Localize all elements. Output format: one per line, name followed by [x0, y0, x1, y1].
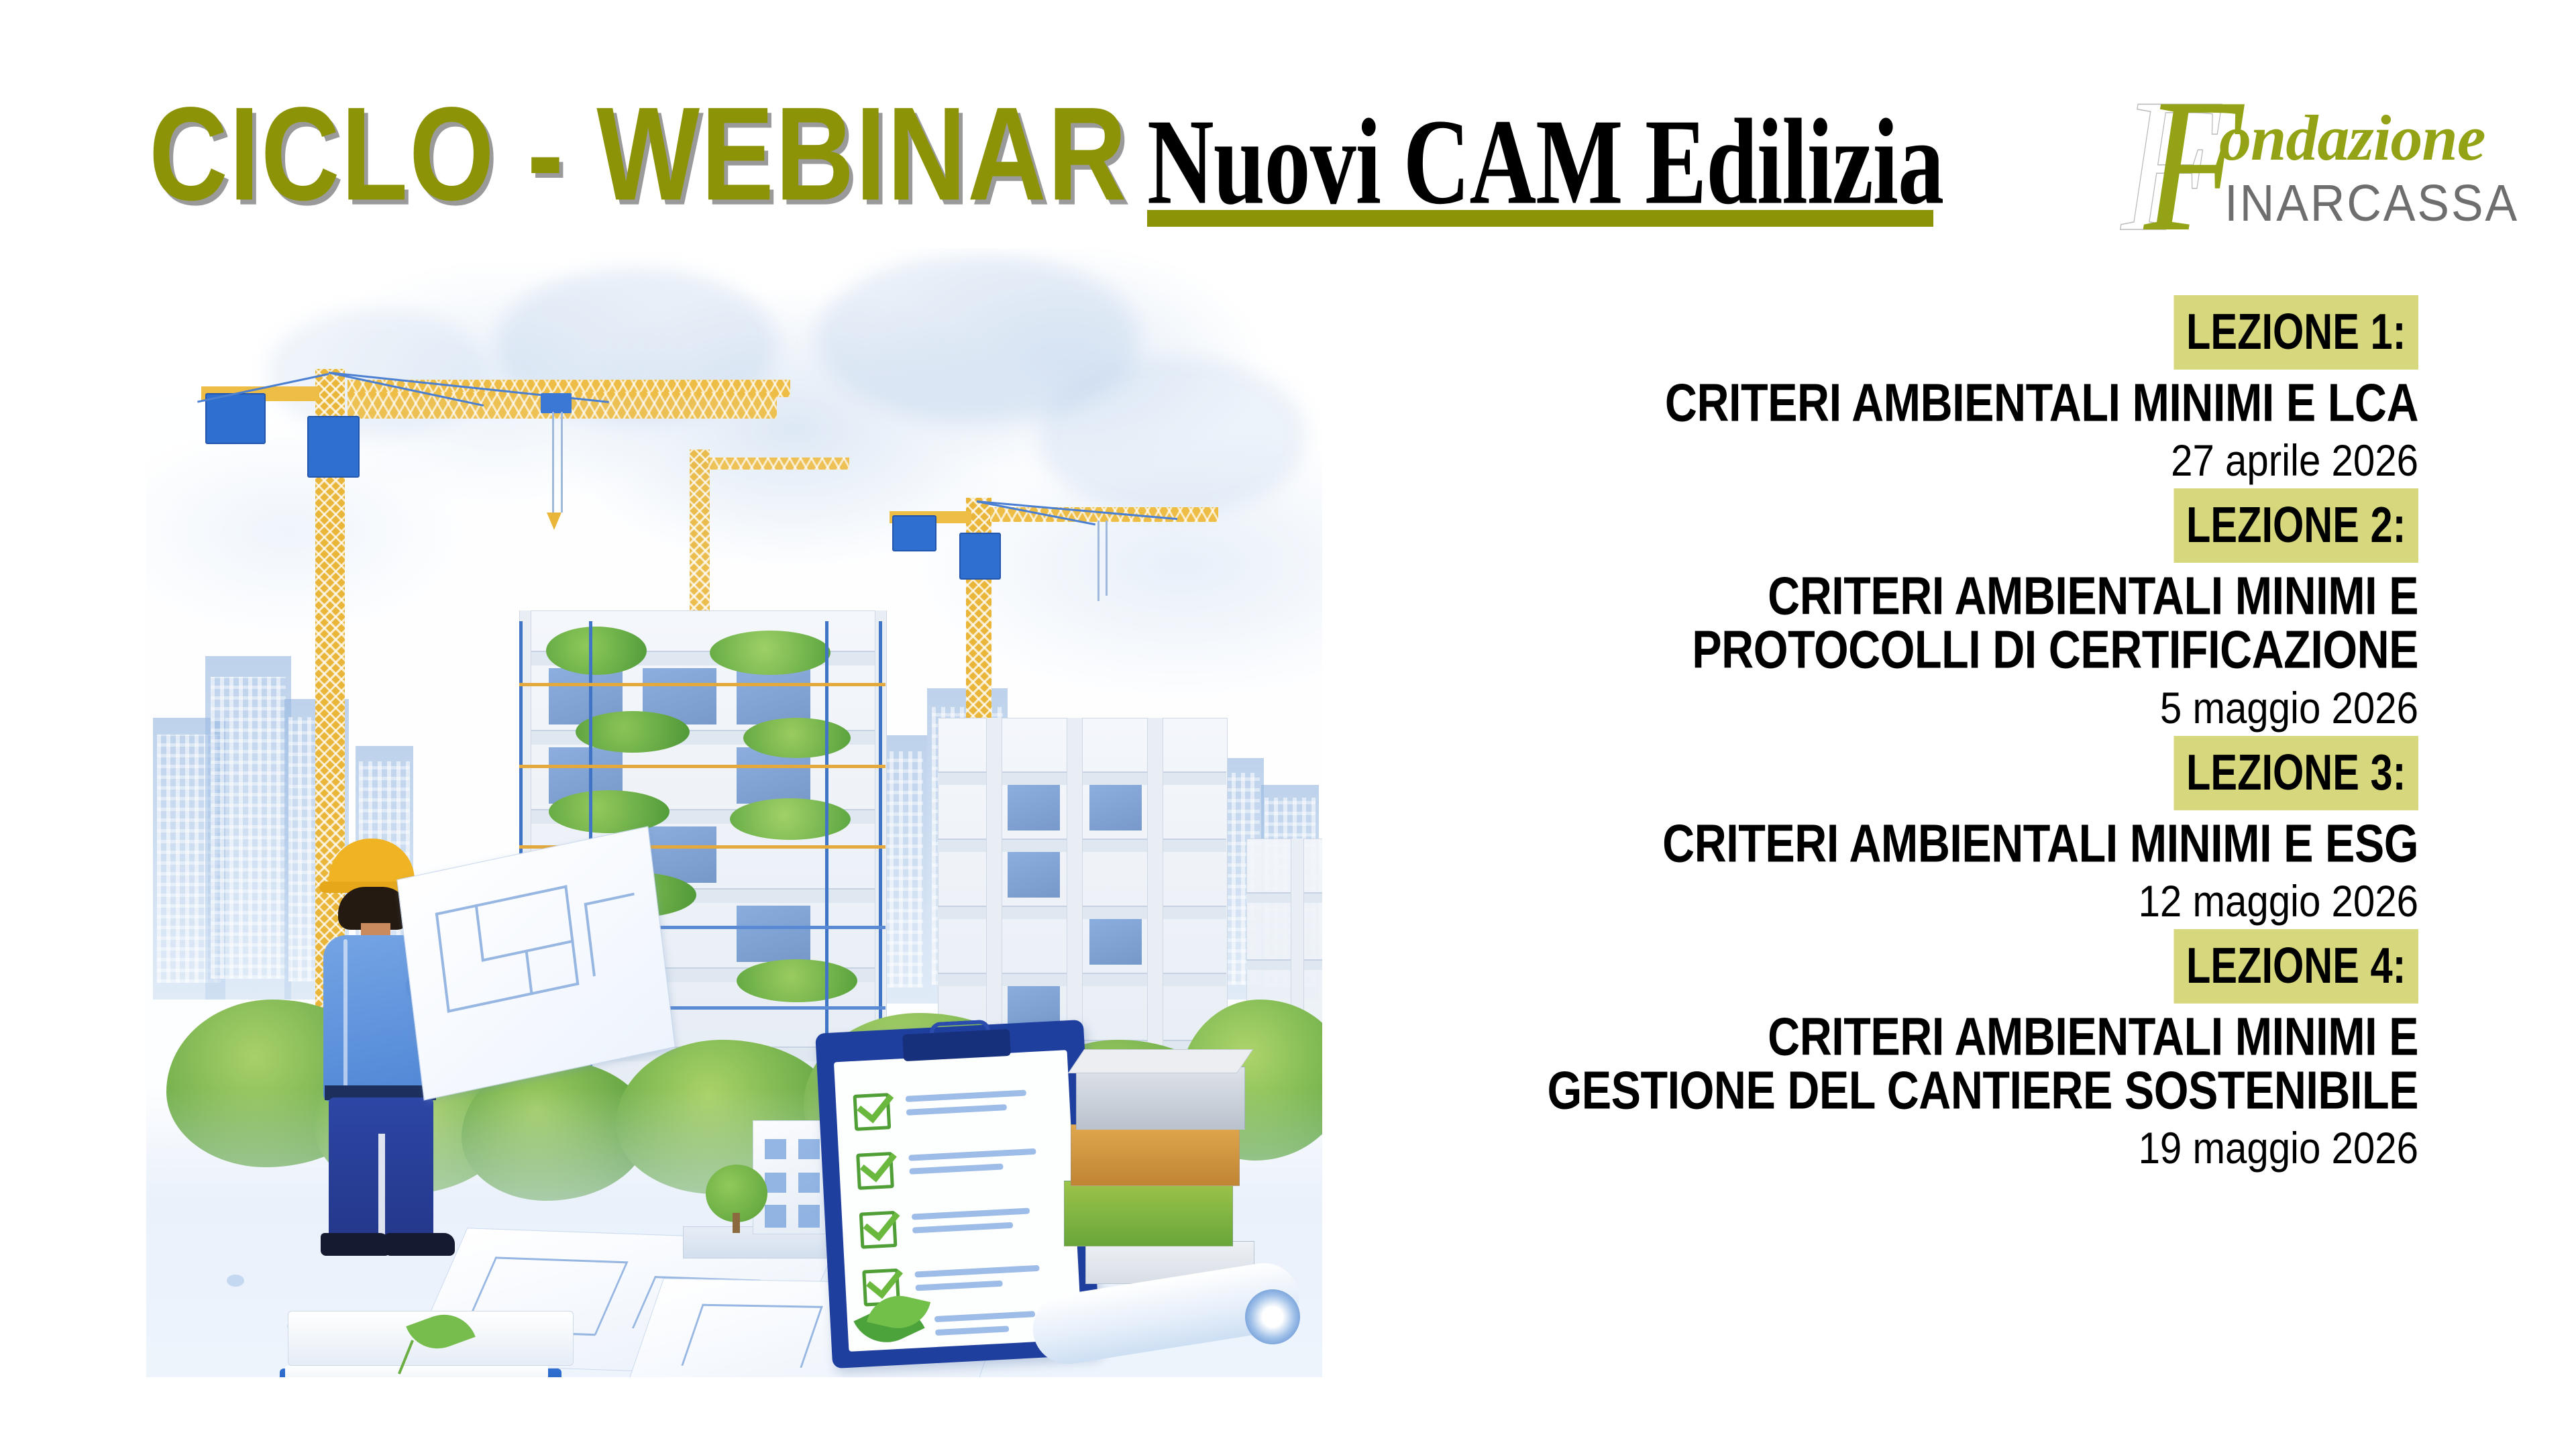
fondazione-inarcassa-logo: F F ondazione INARCASSA	[2140, 74, 2475, 255]
lesson-item: LEZIONE 4: CRITERI AMBIENTALI MINIMI E G…	[1382, 929, 2418, 1167]
page-subtitle: Nuovi CAM Edilizia	[1147, 101, 1943, 223]
sample-green-recycled	[1064, 1181, 1233, 1246]
shoe	[385, 1233, 455, 1256]
lesson-date: 19 maggio 2026	[1413, 1126, 2418, 1171]
lesson-date: 27 aprile 2026	[1413, 439, 2418, 483]
terrace-planting	[546, 627, 647, 675]
book-stack	[264, 1295, 612, 1377]
lesson-title: CRITERI AMBIENTALI MINIMI E ESG	[1434, 815, 2418, 872]
page-header: CICLO - WEBINAR Nuovi CAM Edilizia F F o…	[0, 0, 2576, 248]
page-title: CICLO - WEBINAR	[149, 87, 1128, 220]
leg-gap	[378, 1134, 385, 1238]
terrace-planting	[737, 959, 857, 1002]
sample-concrete-top	[1068, 1049, 1253, 1073]
lesson-title: CRITERI AMBIENTALI MINIMI E LCA	[1434, 374, 2418, 431]
cloud-blob	[1038, 356, 1307, 517]
lesson-item: LEZIONE 3: CRITERI AMBIENTALI MINIMI E E…	[1382, 736, 2418, 920]
lesson-item: LEZIONE 1: CRITERI AMBIENTALI MINIMI E L…	[1382, 295, 2418, 479]
sample-concrete	[1076, 1067, 1245, 1130]
logo-wordmark-sub: INARCASSA	[2224, 178, 2519, 229]
lesson-badge: LEZIONE 1:	[2173, 295, 2418, 370]
lesson-date: 5 maggio 2026	[1413, 686, 2418, 731]
terrace-planting	[710, 631, 830, 675]
lesson-title-line2: GESTIONE DEL CANTIERE SOSTENIBILE	[1434, 1062, 2418, 1119]
shoe	[321, 1233, 390, 1256]
lesson-date: 12 maggio 2026	[1413, 879, 2418, 924]
lesson-title: CRITERI AMBIENTALI MINIMI E	[1434, 568, 2418, 625]
shirt-seam	[343, 939, 347, 1093]
model-tree-trunk	[733, 1213, 740, 1233]
terrace-planting	[743, 718, 851, 758]
rolled-blueprint	[1032, 1254, 1313, 1377]
subtitle-group: Nuovi CAM Edilizia	[1147, 101, 2012, 201]
terrace-planting	[576, 711, 690, 753]
logo-wordmark-script: ondazione	[2219, 106, 2485, 170]
lesson-badge: LEZIONE 4:	[2173, 929, 2418, 1004]
paint-spatter	[227, 1275, 244, 1287]
lesson-title-line2: PROTOCOLLI DI CERTIFICAZIONE	[1434, 621, 2418, 678]
construction-illustration	[146, 248, 1322, 1377]
terrace-planting	[549, 790, 669, 833]
clipboard-clip	[902, 1029, 1011, 1061]
lesson-item: LEZIONE 2: CRITERI AMBIENTALI MINIMI E P…	[1382, 488, 2418, 726]
terrace-planting	[730, 798, 851, 840]
lesson-title: CRITERI AMBIENTALI MINIMI E	[1434, 1008, 2418, 1065]
subtitle-underline-bar	[1147, 210, 1933, 227]
lesson-badge: LEZIONE 3:	[2173, 736, 2418, 810]
sample-wood	[1071, 1124, 1240, 1186]
lesson-list: LEZIONE 1: CRITERI AMBIENTALI MINIMI E L…	[1382, 295, 2418, 1176]
skyline-tower	[205, 656, 291, 1000]
lesson-badge: LEZIONE 2:	[2173, 488, 2418, 563]
